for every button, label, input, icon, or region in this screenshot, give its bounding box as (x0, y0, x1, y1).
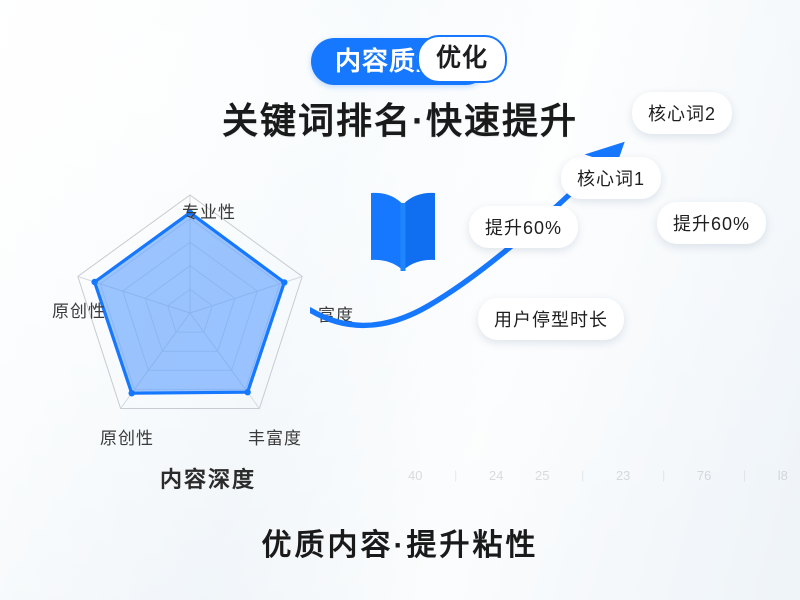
axis-tick-label: 24 (489, 468, 503, 483)
radar-label-left: 原创性 (52, 297, 106, 322)
axis-tick-label: 23 (616, 468, 630, 483)
callout-core-keyword-2[interactable]: 核心词2 (632, 92, 732, 134)
header-badge: 内容质量 优化 (0, 38, 800, 85)
poster-canvas: 内容质量 优化 关键词排名·快速提升 优质内容·提升粘性 内容深度 专业性 富度… (0, 0, 800, 600)
axis-tick-label: l8 (778, 468, 788, 483)
radar-label-bottom-left: 原创性 (100, 424, 154, 449)
axis-tick-label: 40 (408, 468, 422, 483)
page-subtitle-bottom: 优质内容·提升粘性 (0, 520, 800, 564)
axis-tickmark: | (581, 468, 584, 482)
callout-growth-left[interactable]: 提升60% (469, 206, 578, 248)
content-depth-label: 内容深度 (160, 462, 256, 494)
axis-tickmark: | (743, 468, 746, 482)
axis-tickmark: | (662, 468, 665, 482)
badge-highlight-label: 优化 (436, 44, 488, 72)
open-book-icon (366, 184, 440, 276)
axis-tick-strip: 40|2425|23|76|l8 (408, 463, 788, 487)
axis-tick-label: 76 (697, 468, 711, 483)
callout-core-keyword-1[interactable]: 核心词1 (561, 157, 661, 199)
callout-growth-right[interactable]: 提升60% (657, 202, 766, 244)
badge-highlight[interactable]: 优化 (417, 35, 507, 83)
callout-dwell-time[interactable]: 用户停型时长 (478, 298, 624, 340)
radar-label-bottom-right: 丰富度 (248, 424, 302, 449)
axis-tick-label: 25 (535, 468, 549, 483)
badge-primary[interactable]: 内容质量 优化 (311, 38, 489, 85)
radar-label-top: 专业性 (182, 198, 236, 223)
radar-data-area (95, 213, 285, 394)
axis-tickmark: | (454, 468, 457, 482)
